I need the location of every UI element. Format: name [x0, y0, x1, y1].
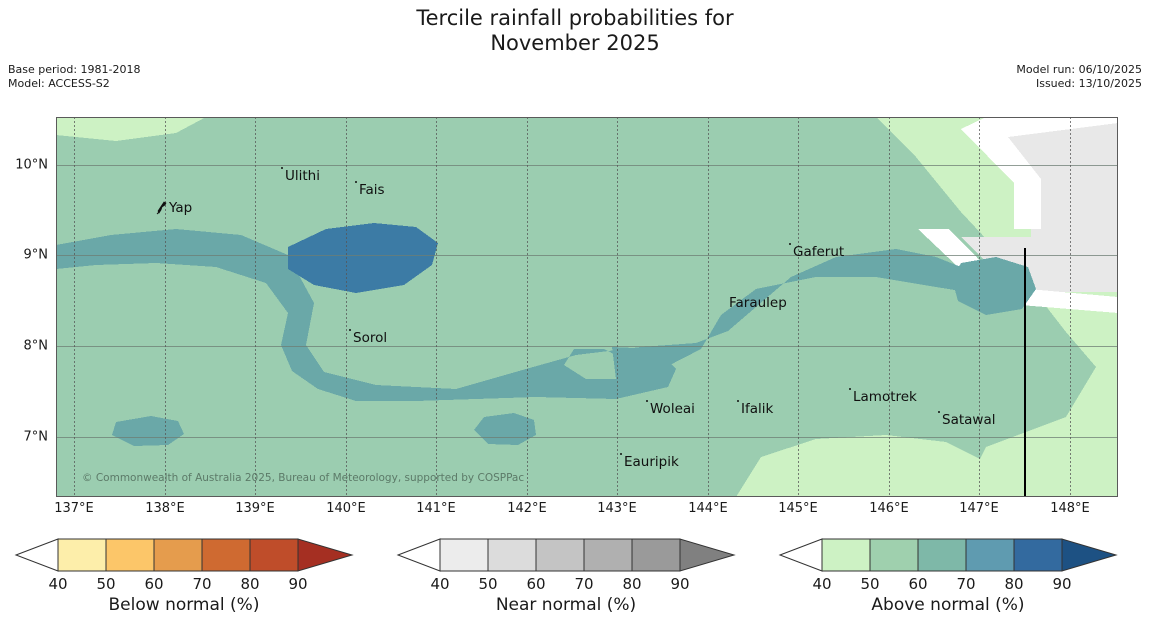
colorbar-below-normal: 40 50 60 70 80 90 Below normal (%)	[8, 537, 360, 641]
gridline-lon-144E	[708, 117, 709, 497]
colorbar-above-normal: 40 50 60 70 80 90 Above normal (%)	[772, 537, 1124, 641]
place-dot	[737, 400, 739, 402]
place-label-yap: Yap	[169, 200, 192, 216]
xtick-139E: 139°E	[235, 501, 275, 516]
xtick-147E: 147°E	[959, 501, 999, 516]
gridline-lon-139E	[255, 117, 256, 497]
gridline-lon-146E	[889, 117, 890, 497]
colorbar-above-ticks: 40 50 60 70 80 90	[772, 575, 1124, 595]
xtick-145E: 145°E	[778, 501, 818, 516]
cb-below-tick-40: 40	[48, 575, 67, 593]
place-dot	[789, 243, 791, 245]
gridline-lat-10N	[56, 165, 1118, 166]
gridline-lon-148E	[1070, 117, 1071, 497]
title-line-1: Tercile rainfall probabilities for	[416, 6, 733, 30]
gridline-lon-145E	[798, 117, 799, 497]
cb-below-tick-60: 60	[144, 575, 163, 593]
xtick-144E: 144°E	[688, 501, 728, 516]
ytick-7N: 7°N	[24, 430, 49, 445]
xtick-141E: 141°E	[416, 501, 456, 516]
meridian-marker-line	[1024, 248, 1026, 497]
cb-below-tick-50: 50	[96, 575, 115, 593]
colorbar-near-normal: 40 50 60 70 80 90 Near normal (%)	[390, 537, 742, 641]
colorbar-near-ticks: 40 50 60 70 80 90	[390, 575, 742, 595]
cb-below-tick-90: 90	[288, 575, 307, 593]
cb-above-tick-40: 40	[812, 575, 831, 593]
ytick-8N: 8°N	[24, 339, 49, 354]
map-copyright-text: © Commonwealth of Australia 2025, Bureau…	[82, 472, 524, 484]
place-label-ifalik: Ifalik	[741, 401, 773, 417]
ytick-10N: 10°N	[15, 158, 48, 173]
place-dot	[349, 329, 351, 331]
place-label-faraulep: Faraulep	[729, 295, 787, 311]
place-dot	[355, 181, 357, 183]
probability-contour-map	[56, 117, 1118, 497]
cb-above-tick-90: 90	[1052, 575, 1071, 593]
cb-near-tick-40: 40	[430, 575, 449, 593]
place-dot	[620, 453, 622, 455]
yap-island-icon	[155, 200, 169, 216]
metadata-right: Model run: 06/10/2025 Issued: 13/10/2025	[1016, 63, 1142, 91]
base-period-label: Base period: 1981-2018	[8, 63, 140, 77]
xtick-148E: 148°E	[1050, 501, 1090, 516]
gridline-lat-9N	[56, 255, 1118, 256]
gridline-lon-140E	[346, 117, 347, 497]
place-label-ulithi: Ulithi	[285, 168, 320, 184]
title-line-2: November 2025	[0, 31, 1150, 56]
metadata-left: Base period: 1981-2018 Model: ACCESS-S2	[8, 63, 140, 91]
cb-near-tick-90: 90	[670, 575, 689, 593]
gridline-lat-8N	[56, 346, 1118, 347]
colorbar-near-title: Near normal (%)	[390, 595, 742, 615]
colorbar-below-ticks: 40 50 60 70 80 90	[8, 575, 360, 595]
colorbar-below-title: Below normal (%)	[8, 595, 360, 615]
place-dot	[849, 388, 851, 390]
colorbar-above-title: Above normal (%)	[772, 595, 1124, 615]
gridline-lon-147E	[979, 117, 980, 497]
cb-near-tick-60: 60	[526, 575, 545, 593]
place-dot	[281, 167, 283, 169]
place-label-satawal: Satawal	[942, 412, 995, 428]
cb-above-tick-70: 70	[956, 575, 975, 593]
xtick-146E: 146°E	[869, 501, 909, 516]
cb-near-tick-50: 50	[478, 575, 497, 593]
cb-above-tick-80: 80	[1004, 575, 1023, 593]
xtick-143E: 143°E	[597, 501, 637, 516]
gridline-lon-137E	[74, 117, 75, 497]
gridline-lon-141E	[436, 117, 437, 497]
place-dot	[646, 400, 648, 402]
place-label-fais: Fais	[359, 182, 385, 198]
gridline-lon-142E	[527, 117, 528, 497]
gridline-lat-7N	[56, 437, 1118, 438]
ytick-9N: 9°N	[24, 248, 49, 263]
cb-below-tick-70: 70	[192, 575, 211, 593]
xtick-138E: 138°E	[145, 501, 185, 516]
place-label-lamotrek: Lamotrek	[853, 389, 917, 405]
cb-below-tick-80: 80	[240, 575, 259, 593]
issued-label: Issued: 13/10/2025	[1016, 77, 1142, 91]
place-label-woleai: Woleai	[650, 401, 695, 417]
place-dot	[938, 411, 940, 413]
place-label-sorol: Sorol	[353, 330, 387, 346]
cb-above-tick-50: 50	[860, 575, 879, 593]
cb-above-tick-60: 60	[908, 575, 927, 593]
gridline-lon-143E	[617, 117, 618, 497]
xtick-142E: 142°E	[507, 501, 547, 516]
page-title: Tercile rainfall probabilities for Novem…	[0, 6, 1150, 56]
cb-near-tick-70: 70	[574, 575, 593, 593]
model-run-label: Model run: 06/10/2025	[1016, 63, 1142, 77]
xtick-140E: 140°E	[326, 501, 366, 516]
xtick-137E: 137°E	[54, 501, 94, 516]
cb-near-tick-80: 80	[622, 575, 641, 593]
map-panel: Yap Ulithi Fais Sorol Gaferut Faraulep W…	[56, 117, 1118, 497]
model-label: Model: ACCESS-S2	[8, 77, 140, 91]
place-label-gaferut: Gaferut	[793, 244, 844, 260]
place-label-eauripik: Eauripik	[624, 454, 679, 470]
gridline-lon-138E	[165, 117, 166, 497]
